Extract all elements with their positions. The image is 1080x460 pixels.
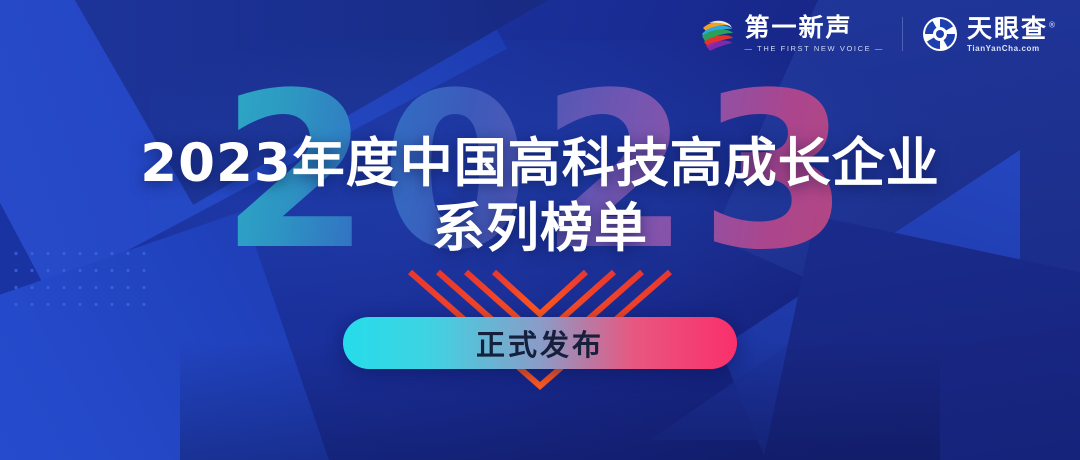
release-status-pill[interactable]: 正式发布 <box>343 317 737 369</box>
logo-divider <box>902 17 903 51</box>
first-new-voice-wordmark: 第一新声 — THE FIRST NEW VOICE — <box>745 15 884 53</box>
tianyancha-wordmark: 天眼查® TianYanCha.com <box>967 16 1058 53</box>
first-new-voice-tagline: — THE FIRST NEW VOICE — <box>745 45 884 53</box>
tianyancha-domain: TianYanCha.com <box>967 45 1058 53</box>
trademark-symbol: ® <box>1048 20 1058 29</box>
headline-line-2: 系列榜单 <box>0 199 1080 258</box>
release-status-label: 正式发布 <box>476 322 604 364</box>
aperture-eye-logo-icon <box>921 15 959 53</box>
page-title: 2023年度中国高科技高成长企业 系列榜单 <box>0 134 1080 259</box>
tianyancha-name-text: 天眼查 <box>967 14 1048 43</box>
tianyancha-logo[interactable]: 天眼查® TianYanCha.com <box>921 15 1058 53</box>
headline-line-1: 2023年度中国高科技高成长企业 <box>0 134 1080 193</box>
tianyancha-name-cn: 天眼查® <box>967 16 1058 41</box>
logo-bar: 第一新声 — THE FIRST NEW VOICE — 天眼查® TianYa… <box>697 14 1058 54</box>
swirl-globe-logo-icon <box>697 14 737 54</box>
first-new-voice-name-cn: 第一新声 <box>745 15 884 40</box>
promo-poster: 2023 2023年度中国高科技高成长企业 系列榜单 正式发布 <box>0 0 1080 460</box>
first-new-voice-logo[interactable]: 第一新声 — THE FIRST NEW VOICE — <box>697 14 884 54</box>
